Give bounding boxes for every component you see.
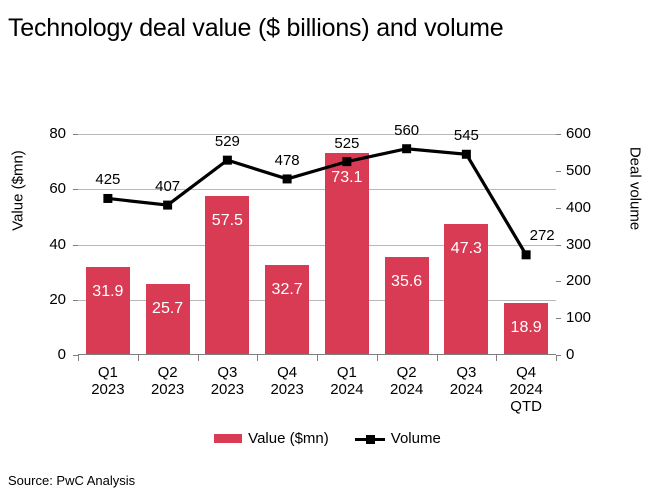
- right-axis-tick-label: 500: [566, 163, 612, 178]
- x-axis-label-line: 2023: [257, 381, 317, 398]
- x-axis-category-label[interactable]: Q12023: [78, 364, 138, 398]
- x-axis-category-label[interactable]: Q42023: [257, 364, 317, 398]
- right-axis-tick-label: 100: [566, 310, 612, 325]
- line-value-label: 560: [379, 122, 435, 139]
- line-marker[interactable]: [522, 250, 531, 259]
- line-marker[interactable]: [283, 174, 292, 183]
- legend-item-volume[interactable]: Volume: [355, 430, 441, 447]
- left-axis-tick-label: 0: [22, 347, 66, 362]
- right-axis-tick-label: 200: [566, 273, 612, 288]
- line-value-label: 407: [140, 178, 196, 195]
- line-value-label: 545: [438, 127, 494, 144]
- bar-value-label: 47.3: [444, 240, 488, 258]
- bar-value-label: 35.6: [385, 273, 429, 291]
- x-axis-label-line: QTD: [496, 398, 556, 415]
- left-axis-tick-label: 40: [22, 237, 66, 252]
- bar[interactable]: [146, 284, 190, 355]
- bar-value-label: 32.7: [265, 281, 309, 299]
- right-axis-tickmark: [556, 281, 561, 282]
- right-axis-tickmark: [556, 245, 561, 246]
- bar-value-label: 25.7: [146, 300, 190, 318]
- bar[interactable]: [385, 257, 429, 355]
- right-axis-tickmark: [556, 171, 561, 172]
- legend-label-volume: Volume: [391, 430, 441, 447]
- x-axis-label-line: Q1: [78, 364, 138, 381]
- chart-legend: Value ($mn) Volume: [0, 430, 655, 447]
- x-axis-label-line: Q4: [257, 364, 317, 381]
- right-axis-title: Deal volume: [627, 119, 644, 259]
- x-axis-label-line: 2023: [138, 381, 198, 398]
- legend-item-value[interactable]: Value ($mn): [214, 430, 329, 447]
- line-value-label: 272: [514, 227, 570, 244]
- line-value-label: 478: [259, 152, 315, 169]
- x-axis-category-label[interactable]: Q22023: [138, 364, 198, 398]
- bar[interactable]: [265, 265, 309, 355]
- x-axis-category-label[interactable]: Q32023: [198, 364, 258, 398]
- left-axis-tick-label: 80: [22, 126, 66, 141]
- bar[interactable]: [86, 267, 130, 355]
- plot-area: 31.925.757.532.773.135.647.318.9 4254075…: [78, 134, 556, 355]
- x-axis-label-line: Q2: [377, 364, 437, 381]
- line-marker[interactable]: [402, 144, 411, 153]
- x-axis-label-line: 2024: [496, 381, 556, 398]
- right-axis-tickmark: [556, 208, 561, 209]
- x-axis-label-line: 2023: [198, 381, 258, 398]
- bar-value-label: 73.1: [325, 169, 369, 187]
- bar-value-label: 57.5: [205, 212, 249, 230]
- x-axis-label-line: Q1: [317, 364, 377, 381]
- x-axis-category-label[interactable]: Q42024QTD: [496, 364, 556, 415]
- bar-value-label: 18.9: [504, 319, 548, 337]
- right-axis-tickmark: [556, 318, 561, 319]
- right-axis-tick-label: 300: [566, 237, 612, 252]
- x-axis-category-label[interactable]: Q12024: [317, 364, 377, 398]
- x-axis-category-label[interactable]: Q22024: [377, 364, 437, 398]
- bar-swatch-icon: [214, 434, 242, 443]
- x-axis-label-line: Q2: [138, 364, 198, 381]
- x-axis-label-line: 2024: [317, 381, 377, 398]
- chart-container: Technology deal value ($ billions) and v…: [0, 0, 655, 500]
- left-axis-tick-label: 60: [22, 181, 66, 196]
- line-marker[interactable]: [163, 201, 172, 210]
- source-note: Source: PwC Analysis: [8, 473, 135, 488]
- x-axis-category-label[interactable]: Q32024: [437, 364, 497, 398]
- x-axis-label-line: Q3: [198, 364, 258, 381]
- x-axis-label-line: 2024: [437, 381, 497, 398]
- line-value-label: 529: [199, 133, 255, 150]
- x-axis-labels: Q12023Q22023Q32023Q42023Q12024Q22024Q320…: [78, 360, 556, 420]
- left-axis-tick-label: 20: [22, 292, 66, 307]
- bar-value-label: 31.9: [86, 283, 130, 301]
- right-axis-tick-label: 600: [566, 126, 612, 141]
- line-marker-icon: [355, 433, 385, 445]
- line-marker[interactable]: [223, 156, 232, 165]
- line-marker[interactable]: [103, 194, 112, 203]
- right-axis-tick-label: 400: [566, 200, 612, 215]
- line-value-label: 425: [80, 171, 136, 188]
- right-axis-tick-label: 0: [566, 347, 612, 362]
- x-axis-label-line: 2023: [78, 381, 138, 398]
- x-axis-label-line: Q3: [437, 364, 497, 381]
- x-axis-label-line: Q4: [496, 364, 556, 381]
- x-axis-label-line: 2024: [377, 381, 437, 398]
- line-value-label: 525: [319, 135, 375, 152]
- x-axis-tickmark: [556, 355, 557, 361]
- chart-title: Technology deal value ($ billions) and v…: [8, 14, 503, 43]
- legend-label-value: Value ($mn): [248, 430, 329, 447]
- line-marker[interactable]: [462, 150, 471, 159]
- right-axis-tickmark: [556, 134, 561, 135]
